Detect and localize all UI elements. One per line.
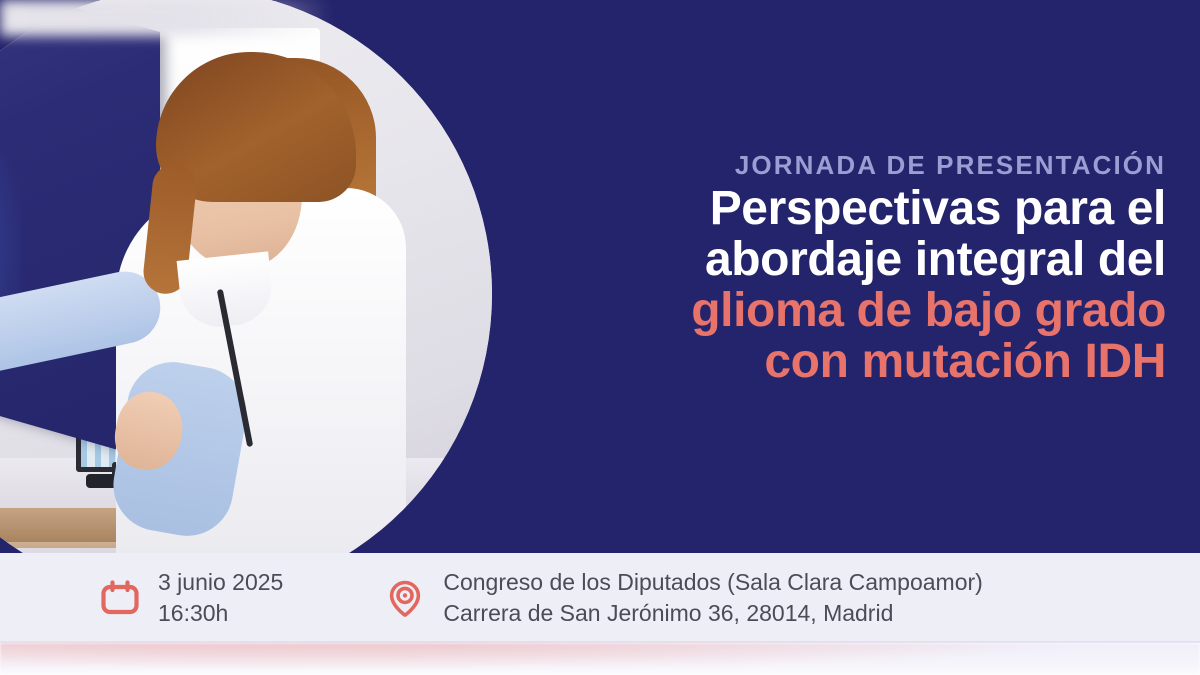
- headline-line-4: con mutación IDH: [566, 337, 1166, 388]
- event-poster: JORNADA DE PRESENTACIÓN Perspectivas par…: [0, 0, 1200, 675]
- headline-line-2: abordaje integral del: [566, 235, 1166, 286]
- event-kicker: JORNADA DE PRESENTACIÓN: [566, 150, 1166, 180]
- poster-reflection: [0, 643, 1200, 675]
- photo-container: [0, 0, 620, 553]
- clinician-photo: [0, 0, 492, 553]
- hero-panel: JORNADA DE PRESENTACIÓN Perspectivas par…: [0, 0, 1200, 553]
- headline-line-1: Perspectivas para el: [566, 184, 1166, 235]
- event-date-line-1: 3 junio 2025: [158, 567, 283, 598]
- photo-top-fade: [0, 0, 330, 36]
- event-location-line-2: Carrera de San Jerónimo 36, 28014, Madri…: [443, 598, 982, 629]
- event-date-item: 3 junio 2025 16:30h: [98, 567, 283, 628]
- headline-line-3: glioma de bajo grado: [566, 286, 1166, 337]
- event-location-text: Congreso de los Diputados (Sala Clara Ca…: [443, 567, 982, 628]
- event-details-bar: 3 junio 2025 16:30h Congreso de los Dipu…: [0, 553, 1200, 643]
- title-block: JORNADA DE PRESENTACIÓN Perspectivas par…: [566, 150, 1166, 388]
- location-pin-icon: [383, 576, 427, 620]
- event-date-line-2: 16:30h: [158, 598, 283, 629]
- calendar-icon: [98, 576, 142, 620]
- event-location-line-1: Congreso de los Diputados (Sala Clara Ca…: [443, 567, 982, 598]
- event-date-text: 3 junio 2025 16:30h: [158, 567, 283, 628]
- event-location-item: Congreso de los Diputados (Sala Clara Ca…: [383, 567, 982, 628]
- page-title: Perspectivas para el abordaje integral d…: [566, 184, 1166, 388]
